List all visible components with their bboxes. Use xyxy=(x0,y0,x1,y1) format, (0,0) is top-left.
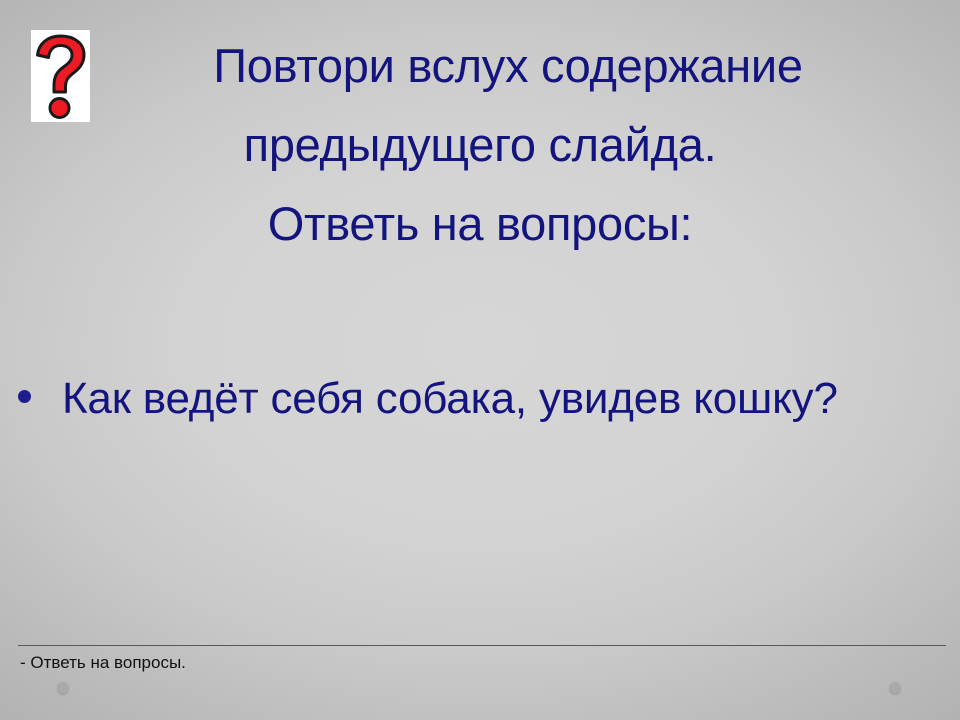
bullet-marker-icon xyxy=(18,390,31,403)
footer-divider xyxy=(18,645,946,646)
slide-title: Повтори вслух содержание предыдущего сла… xyxy=(0,26,960,263)
list-item: Как ведёт себя собака, увидев кошку? xyxy=(0,368,960,430)
title-line-2: предыдущего слайда. xyxy=(0,105,960,184)
decorative-dot-right xyxy=(889,682,901,694)
title-line-3: Ответь на вопросы: xyxy=(0,184,960,263)
slide-body: Как ведёт себя собака, увидев кошку? xyxy=(0,368,960,430)
decorative-dot-left xyxy=(57,682,69,694)
footer-note: - Ответь на вопросы. xyxy=(20,652,186,674)
slide-canvas: Повтори вслух содержание предыдущего сла… xyxy=(0,0,960,720)
bullet-text: Как ведёт себя собака, увидев кошку? xyxy=(62,374,838,423)
title-line-1: Повтори вслух содержание xyxy=(0,26,960,105)
